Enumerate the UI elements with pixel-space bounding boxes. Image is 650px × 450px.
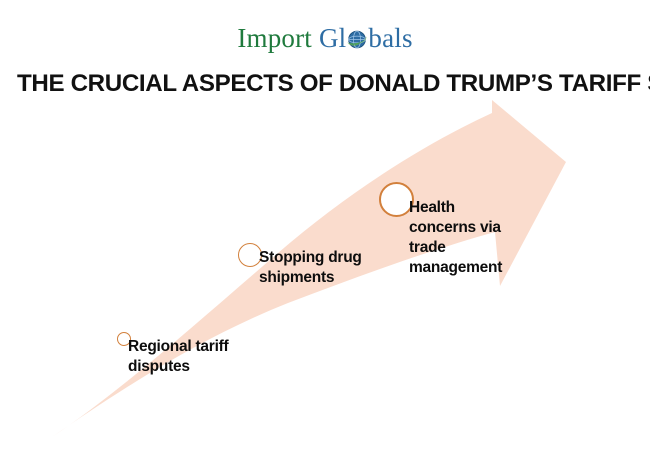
milestone-label-regional-tariff-disputes: Regional tariff disputes xyxy=(128,337,228,377)
page-title: THE CRUCIAL ASPECTS OF DONALD TRUMP’S TA… xyxy=(17,70,632,98)
brand-logo: Import Gl bals xyxy=(0,22,650,54)
brand-name-bals: bals xyxy=(368,23,412,53)
brand-name-import: Import xyxy=(237,23,312,53)
brand-name-gl: Gl xyxy=(319,23,346,53)
milestone-label-health-concerns-trade-management: Health concerns via trade management xyxy=(409,198,502,278)
infographic-canvas: Import Gl bals THE CRUCIAL ASPECTS OF DO… xyxy=(0,0,650,450)
upward-curved-arrow xyxy=(0,0,650,450)
globe-icon xyxy=(346,29,368,50)
milestone-label-stopping-drug-shipments: Stopping drug shipments xyxy=(259,248,362,288)
